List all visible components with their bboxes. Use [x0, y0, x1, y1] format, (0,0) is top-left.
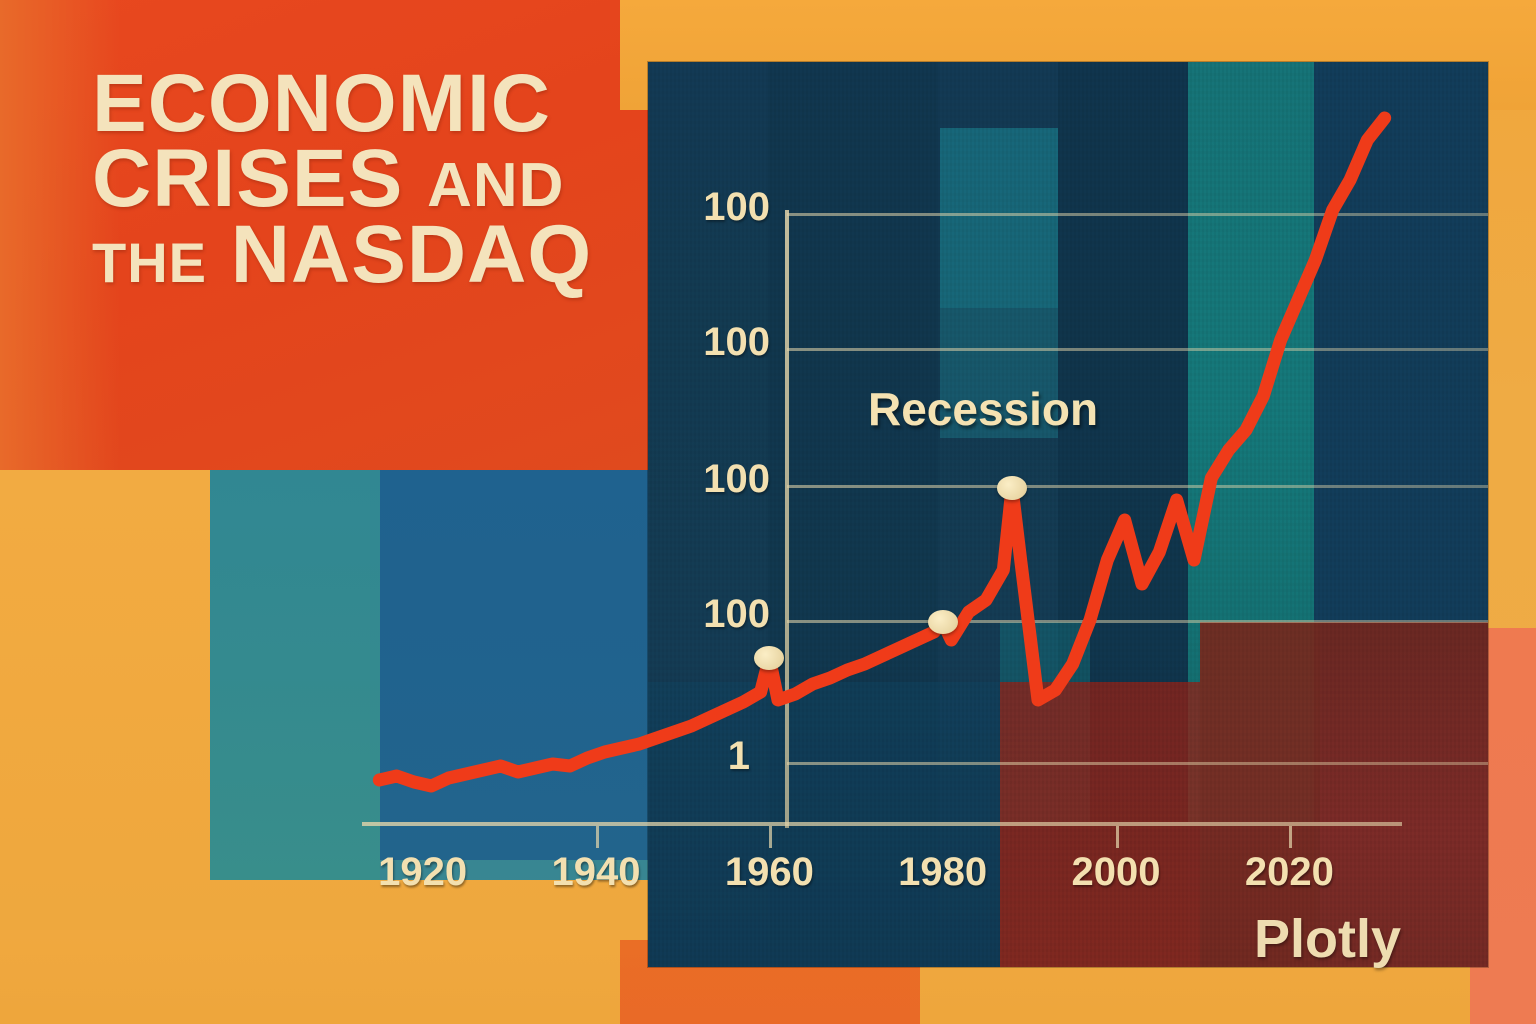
y-tick-label-2: 100 — [650, 457, 770, 502]
chart-plot-area: 1001001001001 192019401960198020002020 R… — [0, 0, 1536, 1024]
data-marker-1 — [928, 610, 958, 634]
poster-canvas: ECONOMIC CRISES AND THE NASDAQ 100100100… — [0, 0, 1536, 1024]
plotly-watermark: Plotly — [1254, 908, 1401, 970]
y-tick-label-4: 1 — [630, 734, 750, 779]
data-marker-2 — [997, 476, 1027, 500]
x-tick-label-2000: 2000 — [1046, 850, 1186, 895]
recession-annotation: Recession — [868, 382, 1098, 436]
x-tick-label-1980: 1980 — [873, 850, 1013, 895]
data-marker-0 — [754, 646, 784, 670]
y-tick-label-0: 100 — [650, 185, 770, 230]
nasdaq-line-series — [379, 118, 1384, 786]
y-tick-label-1: 100 — [650, 320, 770, 365]
x-tick-label-2020: 2020 — [1219, 850, 1359, 895]
y-tick-label-3: 100 — [650, 592, 770, 637]
x-tick-label-1960: 1960 — [699, 850, 839, 895]
x-tick-label-1940: 1940 — [526, 850, 666, 895]
x-tick-label-1920: 1920 — [353, 850, 493, 895]
